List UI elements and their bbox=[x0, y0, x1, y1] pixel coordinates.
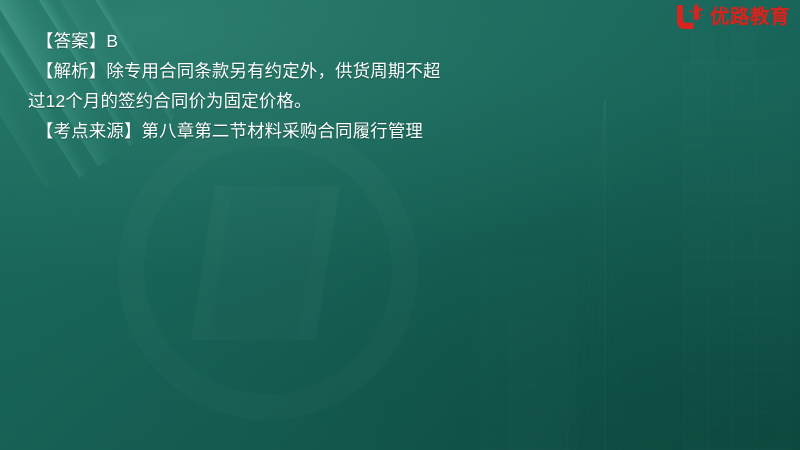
explanation-text-block: 【答案】B 【解析】除专用合同条款另有约定外，供货周期不超 过12个月的签约合同… bbox=[36, 26, 756, 146]
circular-emblem-watermark bbox=[118, 120, 418, 420]
analysis-line-1: 【解析】除专用合同条款另有约定外，供货周期不超 bbox=[36, 56, 756, 86]
knowledge-source-line: 【考点来源】第八章第二节材料采购合同履行管理 bbox=[36, 116, 756, 146]
analysis-line-2: 过12个月的签约合同价为固定价格。 bbox=[28, 86, 756, 116]
brand-name: 优路教育 bbox=[710, 7, 790, 27]
slide-canvas: 【答案】B 【解析】除专用合同条款另有约定外，供货周期不超 过12个月的签约合同… bbox=[0, 0, 800, 450]
youlu-u-mark-icon bbox=[674, 4, 704, 30]
brand-logo: 优路教育 bbox=[674, 4, 790, 30]
answer-line: 【答案】B bbox=[36, 26, 756, 56]
